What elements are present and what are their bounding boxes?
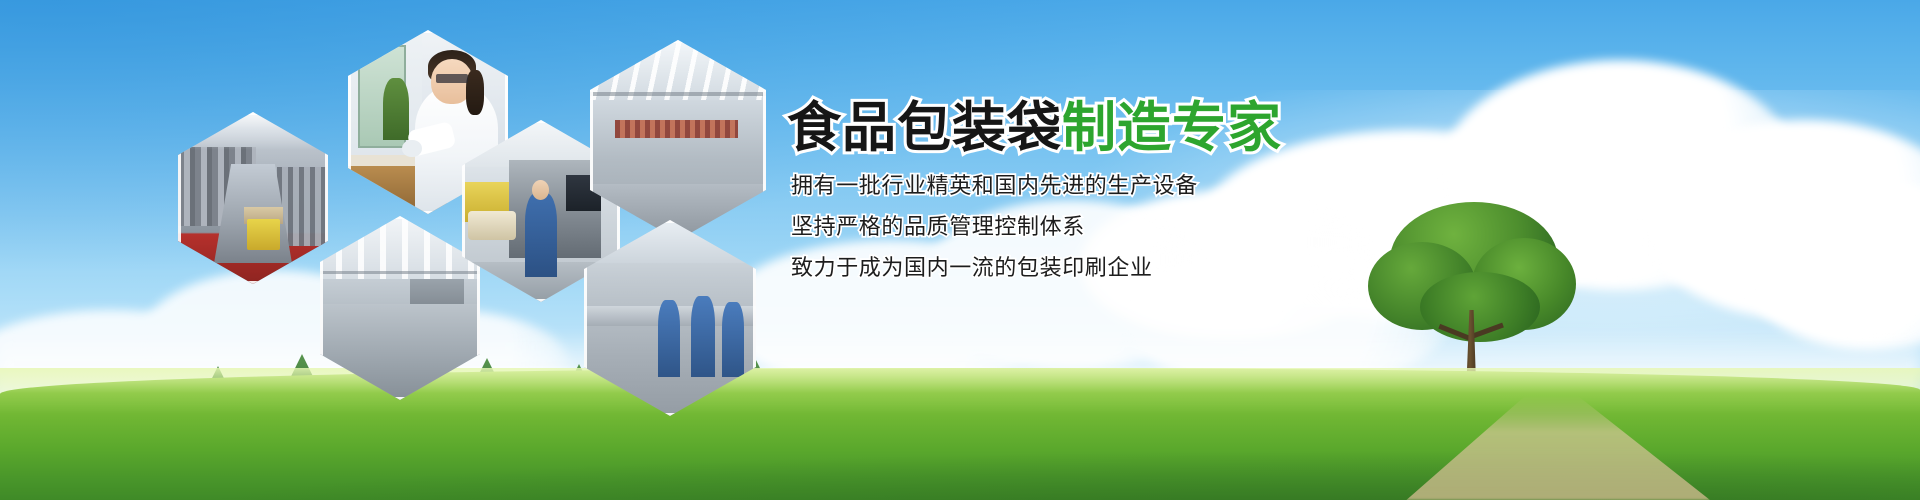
grass-highlight [0, 368, 1920, 414]
headline-part-primary: 食品包装袋 [787, 98, 1062, 158]
banner-subtitle-line-1: 拥有一批行业精英和国内先进的生产设备 [791, 175, 1507, 197]
collage-photo-warehouse-aisle-forklift [178, 112, 328, 284]
headline-part-accent: 制造专家 [1062, 98, 1282, 158]
banner-subtitle-list: 拥有一批行业精英和国内先进的生产设备 坚持严格的品质管理控制体系 致力于成为国内… [791, 175, 1507, 279]
banner-subtitle-line-3: 致力于成为国内一流的包装印刷企业 [791, 257, 1507, 279]
banner-copy: 食品包装袋制造专家 拥有一批行业精英和国内先进的生产设备 坚持严格的品质管理控制… [787, 100, 1507, 279]
banner-headline: 食品包装袋制造专家 [787, 100, 1507, 156]
hero-banner: 食品包装袋制造专家 拥有一批行业精英和国内先进的生产设备 坚持严格的品质管理控制… [0, 0, 1920, 500]
banner-subtitle-line-2: 坚持严格的品质管理控制体系 [791, 216, 1507, 238]
hexagon-photo-collage [170, 20, 770, 360]
